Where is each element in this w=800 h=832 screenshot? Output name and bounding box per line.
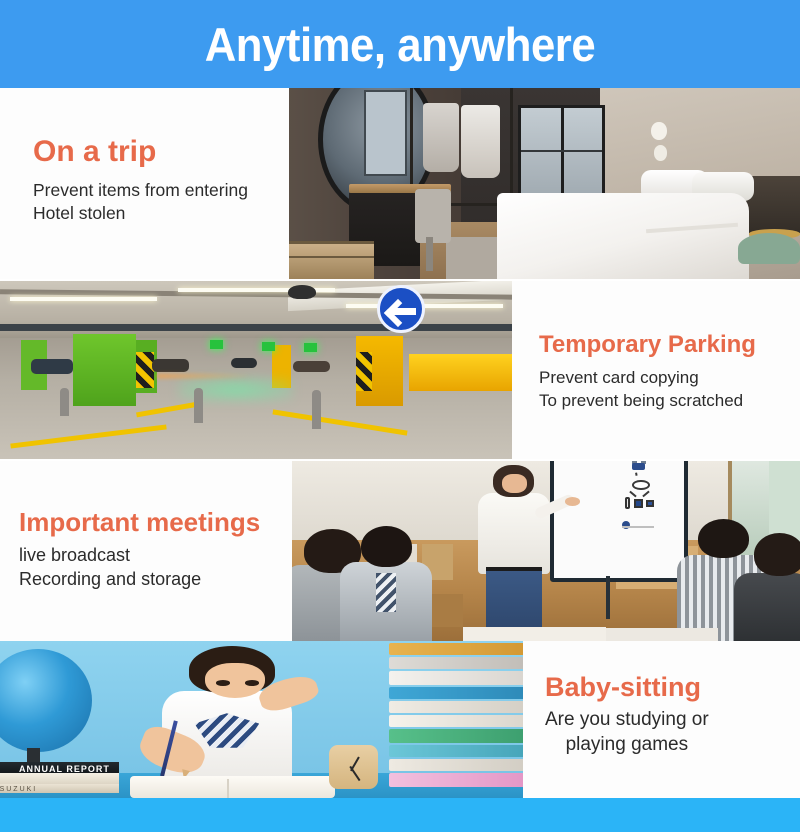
bench-slat [287,256,374,258]
heading-on-a-trip: On a trip [33,136,248,168]
stacked-book [389,729,540,743]
child-studying-photo: ANNUAL REPORT SUZUKI [0,641,540,798]
yellow-barrier-box [409,354,524,391]
text-panel-temporary-parking: Temporary Parking Prevent card copying T… [512,281,800,459]
body-temporary-parking: Prevent card copying To prevent being sc… [539,367,756,412]
diagram-cloud [632,480,650,491]
window-mullion-horizontal [521,150,602,152]
presenter-face [502,474,528,494]
body-line-1: live broadcast [19,544,260,568]
parking-garage-photo [0,281,524,459]
bollard-3 [312,390,321,429]
page-title: Anytime, anywhere [205,21,595,68]
green-bay-light-3 [304,343,317,352]
whiteboard-tray-line [622,526,653,528]
green-bay-light-2 [262,342,275,351]
stacked-book [389,773,540,787]
security-camera-dome [288,285,316,299]
hotel-room-illustration [287,88,800,279]
body-line-2: Recording and storage [19,568,260,592]
attendee-4-body [734,573,800,641]
text-panel-on-a-trip: On a trip Prevent items from entering Ho… [0,88,289,279]
light-streak [157,374,251,378]
text-block-baby-sitting: Baby-sitting Are you studying or playing… [545,673,709,758]
body-on-a-trip: Prevent items from entering Hotel stolen [33,179,248,225]
notebook-spine [227,779,229,798]
flipchart-leg [606,576,610,619]
text-block-important-meetings: Important meetings live broadcast Record… [19,509,260,592]
bathrobe-left [423,103,459,172]
stacked-book [389,671,540,685]
conference-table [463,627,606,641]
stacked-book [389,715,540,728]
parked-car-3 [231,358,257,369]
hotel-bed [497,193,748,279]
attendee-2-head [361,526,412,567]
bathrobe-right [461,105,499,178]
stacked-book [389,643,540,656]
desk-chair [415,189,451,242]
hazard-stripe-left [136,352,154,388]
child-eye-left [216,680,230,685]
left-book-3: SUZUKI [0,784,119,793]
stacked-book [389,759,540,772]
window-mullion-vertical [561,108,564,201]
section-baby-sitting: ANNUAL REPORT SUZUKI [0,641,800,798]
section-on-a-trip: On a trip Prevent items from entering Ho… [0,88,800,279]
heading-baby-sitting: Baby-sitting [545,673,709,701]
text-block-on-a-trip: On a trip Prevent items from entering Ho… [33,136,248,225]
diagram-laptop-top [632,463,645,470]
diagram-connector-3 [642,490,649,497]
presenter-blouse [478,493,550,574]
diagram-phone [625,497,630,509]
text-panel-important-meetings: Important meetings live broadcast Record… [0,461,292,641]
section-temporary-parking: Temporary Parking Prevent card copying T… [0,281,800,459]
book-stack [389,641,540,798]
meeting-room-photo [289,461,800,641]
wall-lamp-lower [654,145,667,160]
book-spine-label: SUZUKI [0,786,37,793]
text-panel-baby-sitting: Baby-sitting Are you studying or playing… [523,641,800,798]
diagram-laptop-right [646,500,654,507]
parked-car-1 [31,359,73,373]
bollard-2 [194,388,203,424]
child-studying-illustration: ANNUAL REPORT SUZUKI [0,641,540,798]
green-pillar-main [73,334,136,405]
heading-temporary-parking: Temporary Parking [539,332,756,357]
hotel-room-photo [287,88,800,279]
meeting-room-illustration [289,461,800,641]
parked-car-4 [293,361,330,372]
body-line-2: To prevent being scratched [539,390,756,412]
hotel-window [518,105,605,204]
body-important-meetings: live broadcast Recording and storage [19,544,260,592]
attendee-2-tie [376,573,396,613]
ceiling-beam-2 [0,324,524,331]
annual-report-book: ANNUAL REPORT [0,762,119,773]
stacked-book [389,701,540,714]
diagram-connector-2 [629,490,636,497]
attendee-3-head [698,519,749,559]
blue-arrow-sign [377,285,425,333]
fluorescent-tube-1 [10,297,157,301]
child-eye-right [245,680,259,685]
bollard-1 [60,388,69,416]
hazard-stripe-right [356,352,372,391]
stacked-book [389,745,540,758]
page-header-banner: Anytime, anywhere [0,0,800,88]
mirror-reflection [364,90,407,176]
green-side-table [738,233,800,264]
heading-important-meetings: Important meetings [19,509,260,536]
green-bay-light-1 [210,340,223,349]
promo-page: Anytime, anywhere [0,0,800,832]
whiteboard-flipchart [550,461,688,582]
parking-garage-illustration [0,281,524,459]
section-important-meetings: Important meetings live broadcast Record… [0,461,800,641]
left-book-2 [0,773,119,784]
open-notebook [130,776,335,798]
stacked-book [389,687,540,700]
wood-bench [287,241,374,279]
text-block-temporary-parking: Temporary Parking Prevent card copying T… [539,332,756,412]
diagram-connector-1 [636,472,638,475]
diagram-monitor [634,499,643,508]
conference-table-2 [606,628,718,641]
body-line-2: Hotel stolen [33,202,248,225]
body-line-1: Are you studying or [545,707,709,732]
body-line-2: playing games [545,732,709,757]
attendee-4-head [754,533,800,576]
chair-leg [426,237,434,271]
footer-bar [0,798,800,832]
body-line-1: Prevent card copying [539,367,756,389]
body-line-1: Prevent items from entering [33,179,248,202]
stacked-book [389,657,540,670]
presenter-belt [486,567,542,571]
wall-lamp-upper [651,122,666,139]
body-baby-sitting: Are you studying or playing games [545,707,709,757]
parked-car-2 [152,359,189,371]
